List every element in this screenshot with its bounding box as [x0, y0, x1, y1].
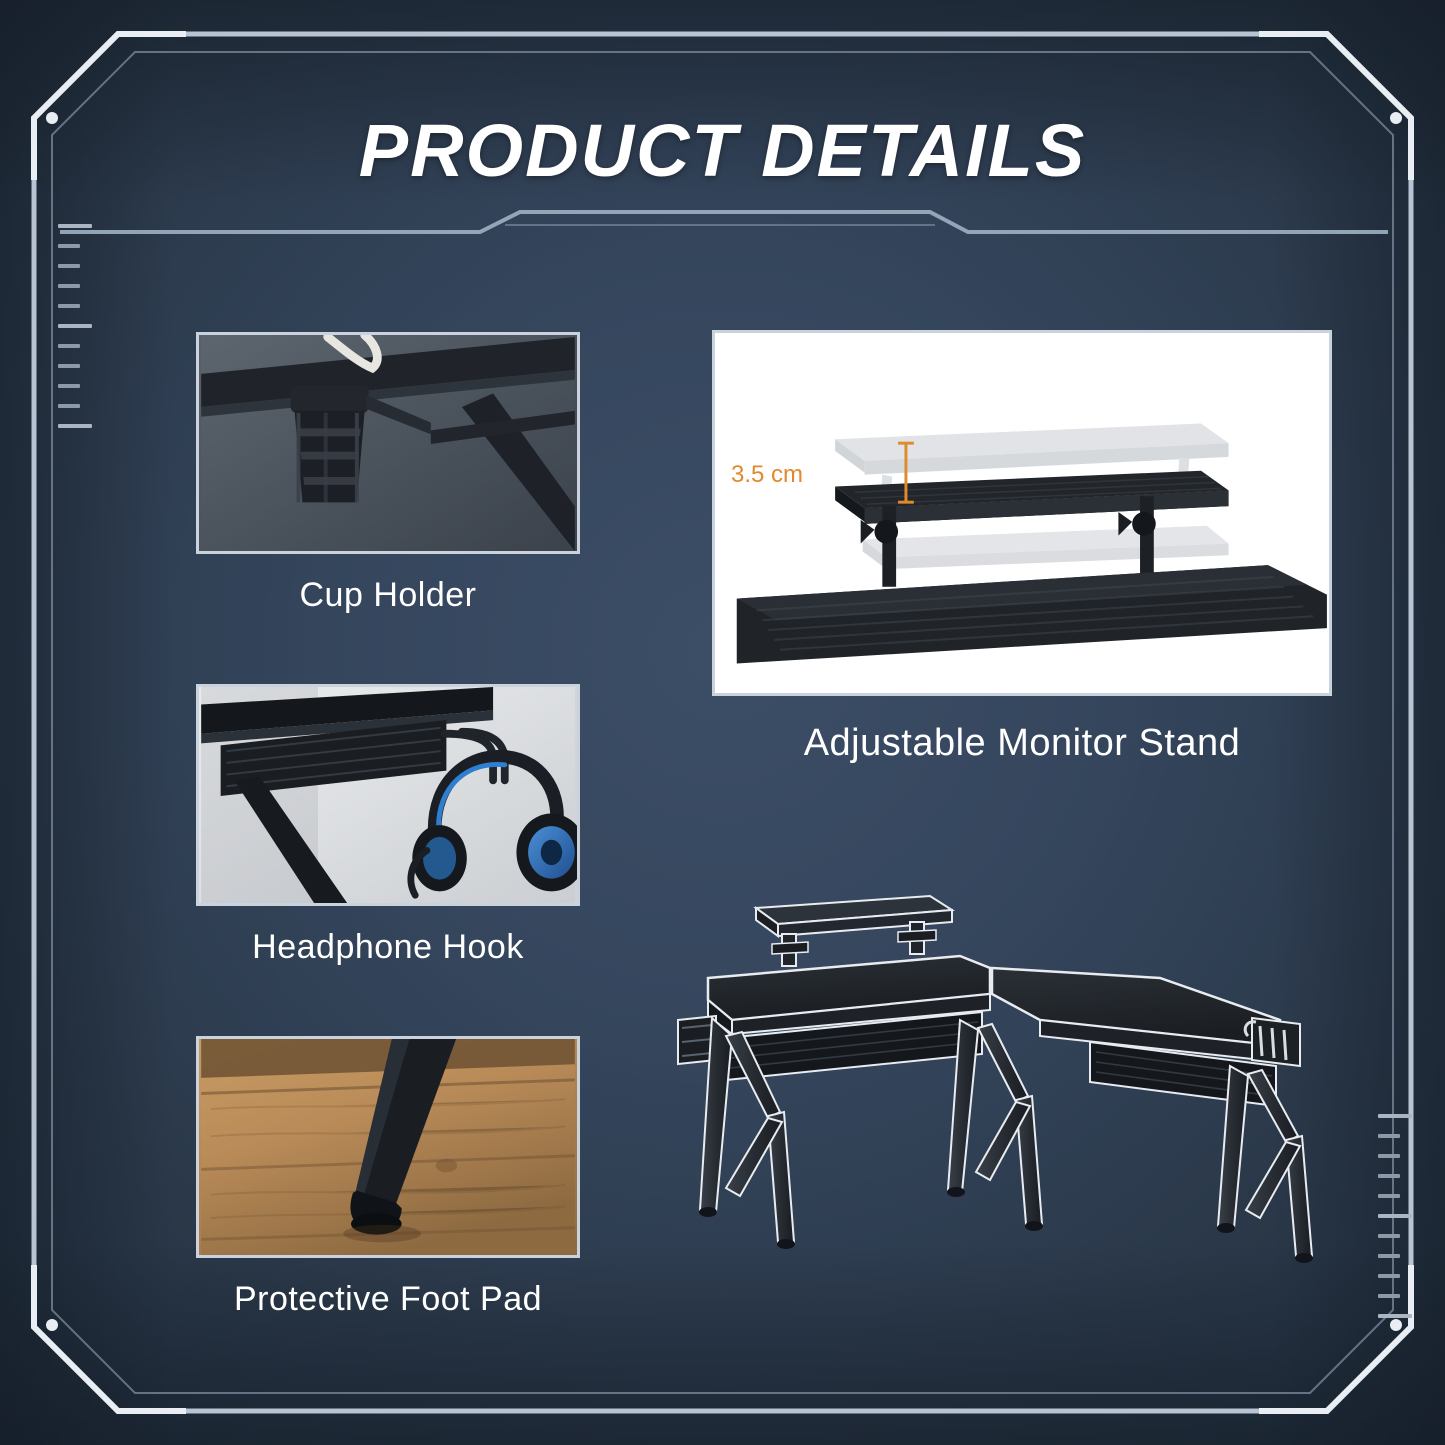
feature-card-adjustable-monitor-stand: 3.5 cm Adjustable Monitor Stand [712, 330, 1332, 765]
ruler-ticks-icon-right [1378, 1114, 1412, 1334]
feature-caption-cup-holder: Cup Holder [196, 576, 580, 615]
feature-image-headphone-hook [196, 684, 580, 906]
feature-card-cup-holder: Cup Holder [196, 332, 580, 615]
feature-caption-adjustable-monitor-stand: Adjustable Monitor Stand [712, 722, 1332, 765]
feature-image-adjustable-monitor-stand: 3.5 cm [712, 330, 1332, 696]
feature-caption-headphone-hook: Headphone Hook [196, 928, 580, 967]
feature-caption-protective-foot-pad: Protective Foot Pad [196, 1280, 580, 1319]
feature-card-headphone-hook: Headphone Hook [196, 684, 580, 967]
monitor-stand-measurement-label: 3.5 cm [731, 461, 803, 489]
ruler-ticks-icon-left [58, 224, 92, 444]
feature-image-protective-foot-pad [196, 1036, 580, 1258]
product-render-l-shaped-desk [660, 870, 1380, 1290]
feature-image-cup-holder [196, 332, 580, 554]
page-title: PRODUCT DETAILS [0, 108, 1445, 193]
feature-card-protective-foot-pad: Protective Foot Pad [196, 1036, 580, 1319]
